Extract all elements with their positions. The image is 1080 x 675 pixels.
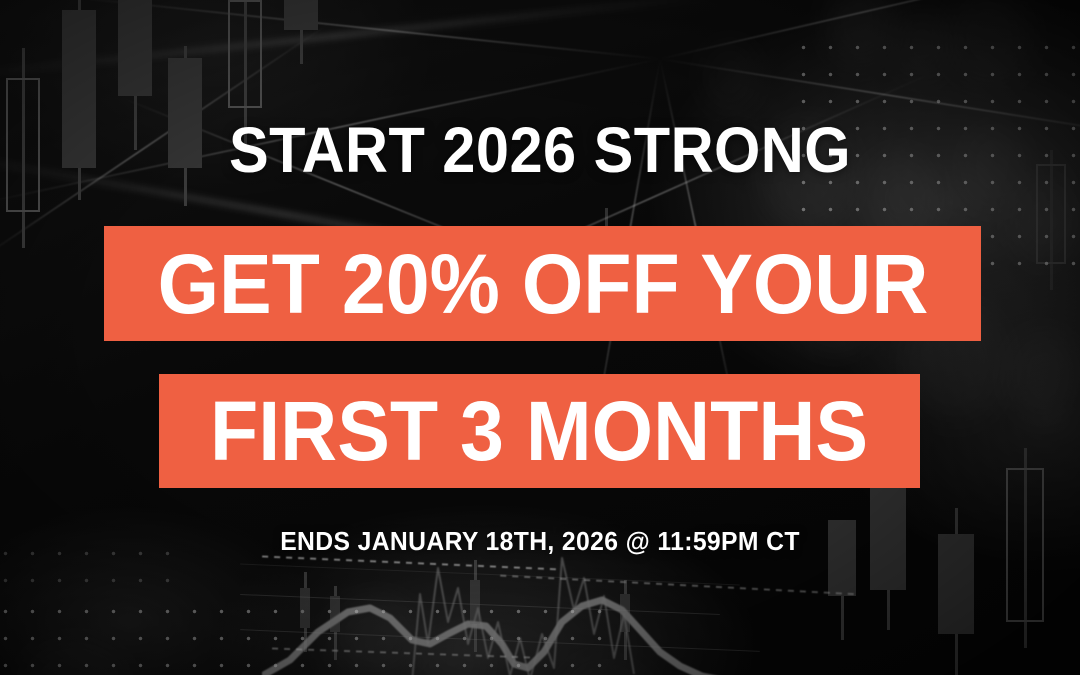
headline: START 2026 STRONG [38, 118, 1042, 182]
offer-band-primary: GET 20% OFF YOUR [104, 226, 981, 341]
deadline-text: ENDS JANUARY 18TH, 2026 @ 11:59PM CT [27, 526, 1053, 556]
promo-banner: START 2026 STRONG GET 20% OFF YOUR FIRST… [0, 0, 1080, 675]
offer-band-secondary: FIRST 3 MONTHS [159, 374, 920, 488]
offer-line-2: FIRST 3 MONTHS [210, 389, 868, 473]
offer-line-1: GET 20% OFF YOUR [157, 242, 928, 326]
promo-content: START 2026 STRONG GET 20% OFF YOUR FIRST… [0, 0, 1080, 675]
